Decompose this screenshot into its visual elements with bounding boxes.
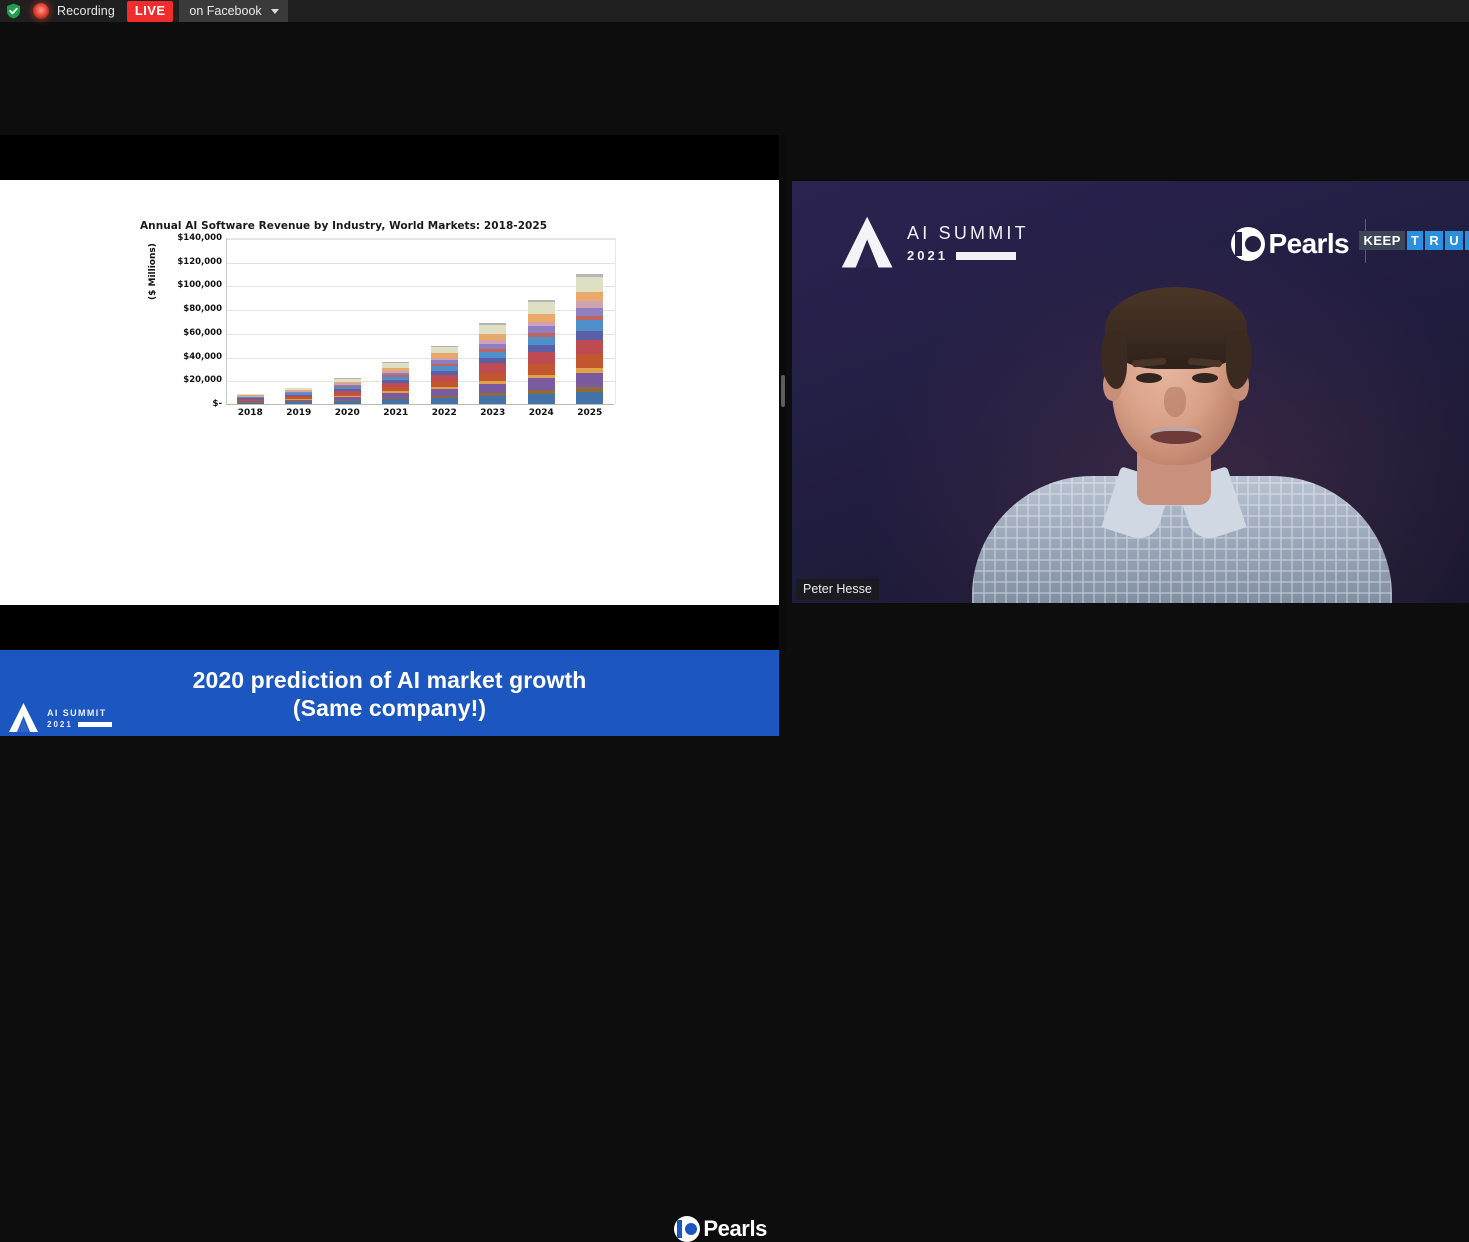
- bar-segment: [576, 277, 603, 292]
- ai-summit-wordmark: AI SUMMIT 2021: [907, 223, 1029, 263]
- y-axis-label: ($ Millions): [148, 286, 158, 300]
- bar-column: [226, 238, 275, 404]
- bar-segment: [479, 384, 506, 393]
- bar-segment: [576, 373, 603, 388]
- bar-column: [372, 238, 421, 404]
- ai-summit-wordmark: AI SUMMIT 2021: [47, 708, 112, 729]
- bar-column: [566, 238, 615, 404]
- sponsor-keep: KEEP: [1359, 231, 1404, 250]
- presenter-eye-left: [1136, 373, 1162, 383]
- recording-dot-icon: [33, 3, 49, 19]
- bar-segment: [576, 308, 603, 316]
- ai-summit-name: AI SUMMIT: [47, 708, 112, 718]
- pearls-wordmark: Pearls: [1269, 228, 1349, 260]
- stacked-bar: [528, 300, 555, 404]
- stream-platform-dropdown[interactable]: on Facebook: [179, 0, 287, 22]
- pearls-mark-icon: [1231, 227, 1265, 261]
- ai-summit-year: 2021: [47, 720, 73, 729]
- bar-segment: [576, 354, 603, 368]
- bar-segment: [528, 394, 555, 404]
- sponsor-letter-u: U: [1445, 231, 1463, 250]
- bar-column: [517, 238, 566, 404]
- y-axis-tick: $20,000: [183, 375, 222, 385]
- x-axis-tick: 2023: [469, 408, 518, 418]
- participant-video-tile[interactable]: AI SUMMIT 2021 Pearls KEEP T R U C Peter…: [792, 181, 1469, 603]
- ai-summit-year: 2021: [907, 248, 948, 263]
- x-axis-tick: 2025: [566, 408, 615, 418]
- sponsor-letter-c: C: [1465, 231, 1469, 250]
- bar-segment: [528, 378, 555, 390]
- chart-plot-area: ($ Millions) $-$20,000$40,000$60,000$80,…: [140, 238, 618, 438]
- y-axis-tick: $100,000: [177, 280, 222, 290]
- x-axis-tick: 2024: [517, 408, 566, 418]
- participant-name-badge: Peter Hesse: [796, 579, 879, 600]
- presenter-nose: [1164, 387, 1186, 417]
- bar-segment: [479, 352, 506, 359]
- bar-column: [323, 238, 372, 404]
- bar-segment: [382, 399, 409, 404]
- sponsor-logo: KEEP T R U C: [1359, 231, 1469, 250]
- stacked-bar: [382, 362, 409, 404]
- bar-segment: [479, 325, 506, 334]
- live-badge: LIVE: [127, 1, 174, 22]
- slide-banner-title-line2: (Same company!): [0, 694, 779, 722]
- bar-column: [469, 238, 518, 404]
- slide-banner-title: 2020 prediction of AI market growth (Sam…: [0, 666, 779, 722]
- pearls-mark-icon: [674, 1216, 700, 1242]
- sponsor-letter-t: T: [1407, 231, 1423, 250]
- slide-pearls-logo: Pearls: [674, 1216, 767, 1242]
- bar-segment: [479, 373, 506, 381]
- video-ai-summit-logo: AI SUMMIT 2021: [840, 214, 1029, 272]
- bar-segment: [479, 363, 506, 372]
- bar-segment: [576, 331, 603, 339]
- recording-label: Recording: [57, 4, 115, 18]
- presentation-slide: Annual AI Software Revenue by Industry, …: [0, 180, 779, 605]
- ai-summit-rule: [78, 722, 112, 727]
- slide-banner-title-line1: 2020 prediction of AI market growth: [0, 666, 779, 694]
- ai-summit-rule: [956, 252, 1016, 260]
- stacked-bar: [576, 274, 603, 404]
- x-axis-tick: 2022: [420, 408, 469, 418]
- bar-column: [275, 238, 324, 404]
- stacked-bar: [431, 346, 458, 404]
- chart-bars: [226, 238, 614, 404]
- slide-ai-summit-logo: AI SUMMIT 2021: [8, 702, 112, 734]
- bar-segment: [576, 392, 603, 404]
- x-axis-tick: 2021: [372, 408, 421, 418]
- chevron-down-icon: [271, 9, 279, 14]
- x-axis-tick: 2018: [226, 408, 275, 418]
- x-axis-tick: 2019: [275, 408, 324, 418]
- bar-segment: [576, 292, 603, 302]
- stacked-bar: [237, 394, 264, 404]
- bar-segment: [528, 302, 555, 314]
- y-axis-tick: $80,000: [183, 304, 222, 314]
- x-axis-tick: 2020: [323, 408, 372, 418]
- presenter-mouth: [1150, 427, 1202, 444]
- stacked-bar: [479, 323, 506, 404]
- ai-summit-name: AI SUMMIT: [907, 223, 1029, 243]
- recording-statusbar: Recording LIVE on Facebook: [0, 0, 1469, 22]
- y-axis-tick: $60,000: [183, 328, 222, 338]
- chart-title: Annual AI Software Revenue by Industry, …: [140, 220, 630, 232]
- shield-check-icon: [6, 3, 21, 19]
- ai-summit-mark-icon: [8, 702, 40, 734]
- bar-segment: [334, 401, 361, 404]
- bar-segment: [479, 396, 506, 404]
- bar-segment: [528, 314, 555, 322]
- bar-segment: [528, 337, 555, 346]
- pane-splitter-handle[interactable]: [781, 375, 785, 407]
- y-axis-ticks: $-$20,000$40,000$60,000$80,000$100,000$1…: [160, 238, 222, 404]
- stream-platform-label: on Facebook: [189, 4, 261, 18]
- bar-segment: [528, 352, 555, 364]
- bar-segment: [576, 320, 603, 331]
- stacked-bar: [285, 388, 312, 404]
- y-axis-tick: $120,000: [177, 257, 222, 267]
- bar-segment: [431, 398, 458, 404]
- y-axis-tick: $-: [213, 399, 222, 409]
- video-pearls-logo: Pearls: [1231, 227, 1349, 261]
- x-axis-ticks: 20182019202020212022202320242025: [226, 408, 614, 418]
- shared-screen-pane[interactable]: Annual AI Software Revenue by Industry, …: [0, 135, 779, 651]
- sponsor-letter-r: R: [1425, 231, 1443, 250]
- bar-segment: [528, 364, 555, 375]
- bar-segment: [285, 402, 312, 404]
- presenter-eye-right: [1192, 373, 1218, 383]
- chart-container: Annual AI Software Revenue by Industry, …: [140, 220, 630, 445]
- slide-banner: 2020 prediction of AI market growth (Sam…: [0, 650, 779, 736]
- stacked-bar: [334, 378, 361, 404]
- bar-column: [420, 238, 469, 404]
- ai-summit-mark-icon: [840, 214, 896, 272]
- bar-segment: [576, 340, 603, 355]
- pearls-wordmark: Pearls: [703, 1216, 767, 1242]
- y-axis-tick: $140,000: [177, 233, 222, 243]
- y-axis-tick: $40,000: [183, 352, 222, 362]
- bar-segment: [237, 403, 264, 404]
- chart-baseline: [226, 404, 614, 405]
